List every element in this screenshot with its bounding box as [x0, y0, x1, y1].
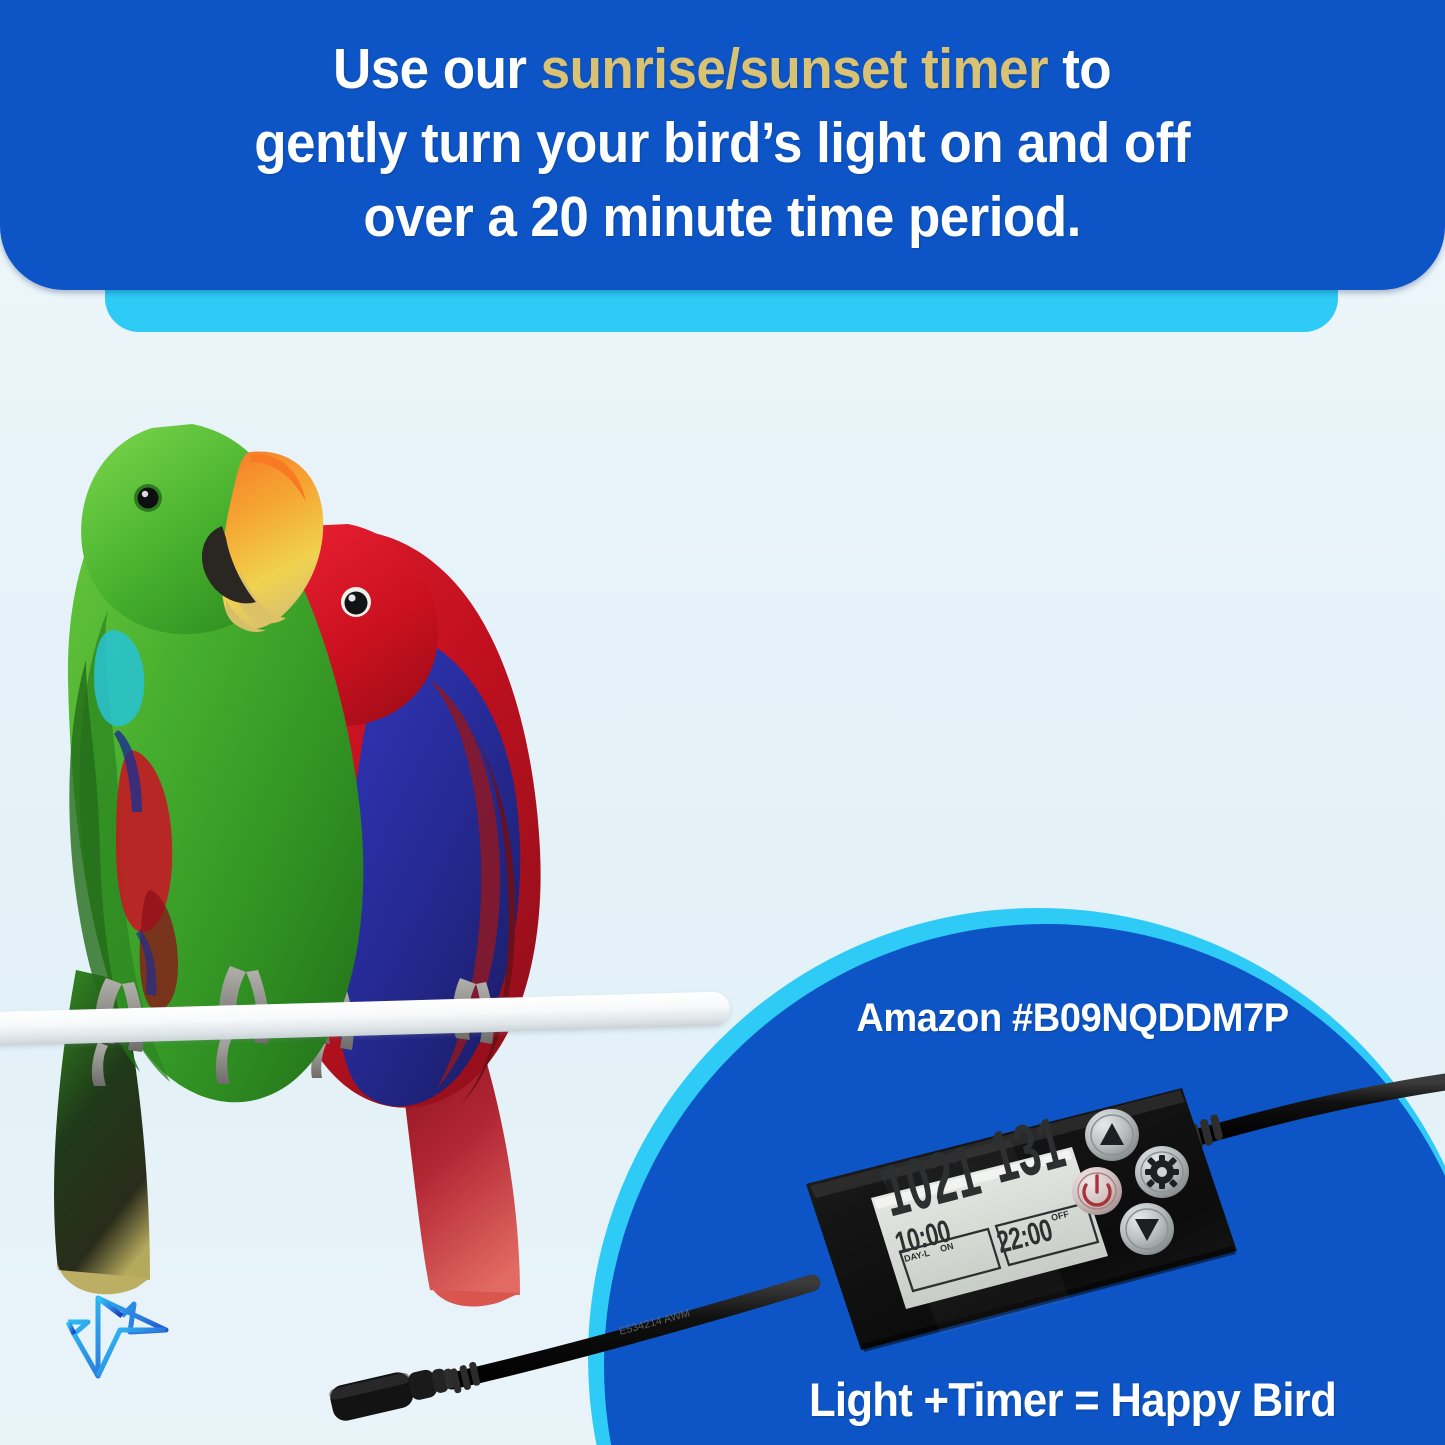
amazon-asin-label: Amazon #B09NQDDM7P	[719, 996, 1427, 1041]
origami-bird-logo	[48, 1276, 198, 1396]
headline-text: Use our sunrise/sunset timer to gently t…	[255, 0, 1191, 254]
headline-pre: Use our	[333, 37, 541, 101]
header-accent-band	[105, 286, 1338, 332]
green-male-eclectus-parrot	[54, 424, 363, 1294]
headline-line-3: over a 20 minute time period.	[255, 180, 1191, 254]
tagline-text: Light +Timer = Happy Bird	[726, 1372, 1419, 1427]
headline-line-2: gently turn your bird’s light on and off	[255, 106, 1191, 180]
headline-post: to	[1048, 37, 1111, 101]
header-banner: Use our sunrise/sunset timer to gently t…	[0, 0, 1445, 290]
headline-line-1: Use our sunrise/sunset timer to	[255, 32, 1191, 106]
poster-canvas: Amazon #B09NQDDM7P	[0, 0, 1445, 1445]
headline-highlight: sunrise/sunset timer	[541, 37, 1048, 101]
